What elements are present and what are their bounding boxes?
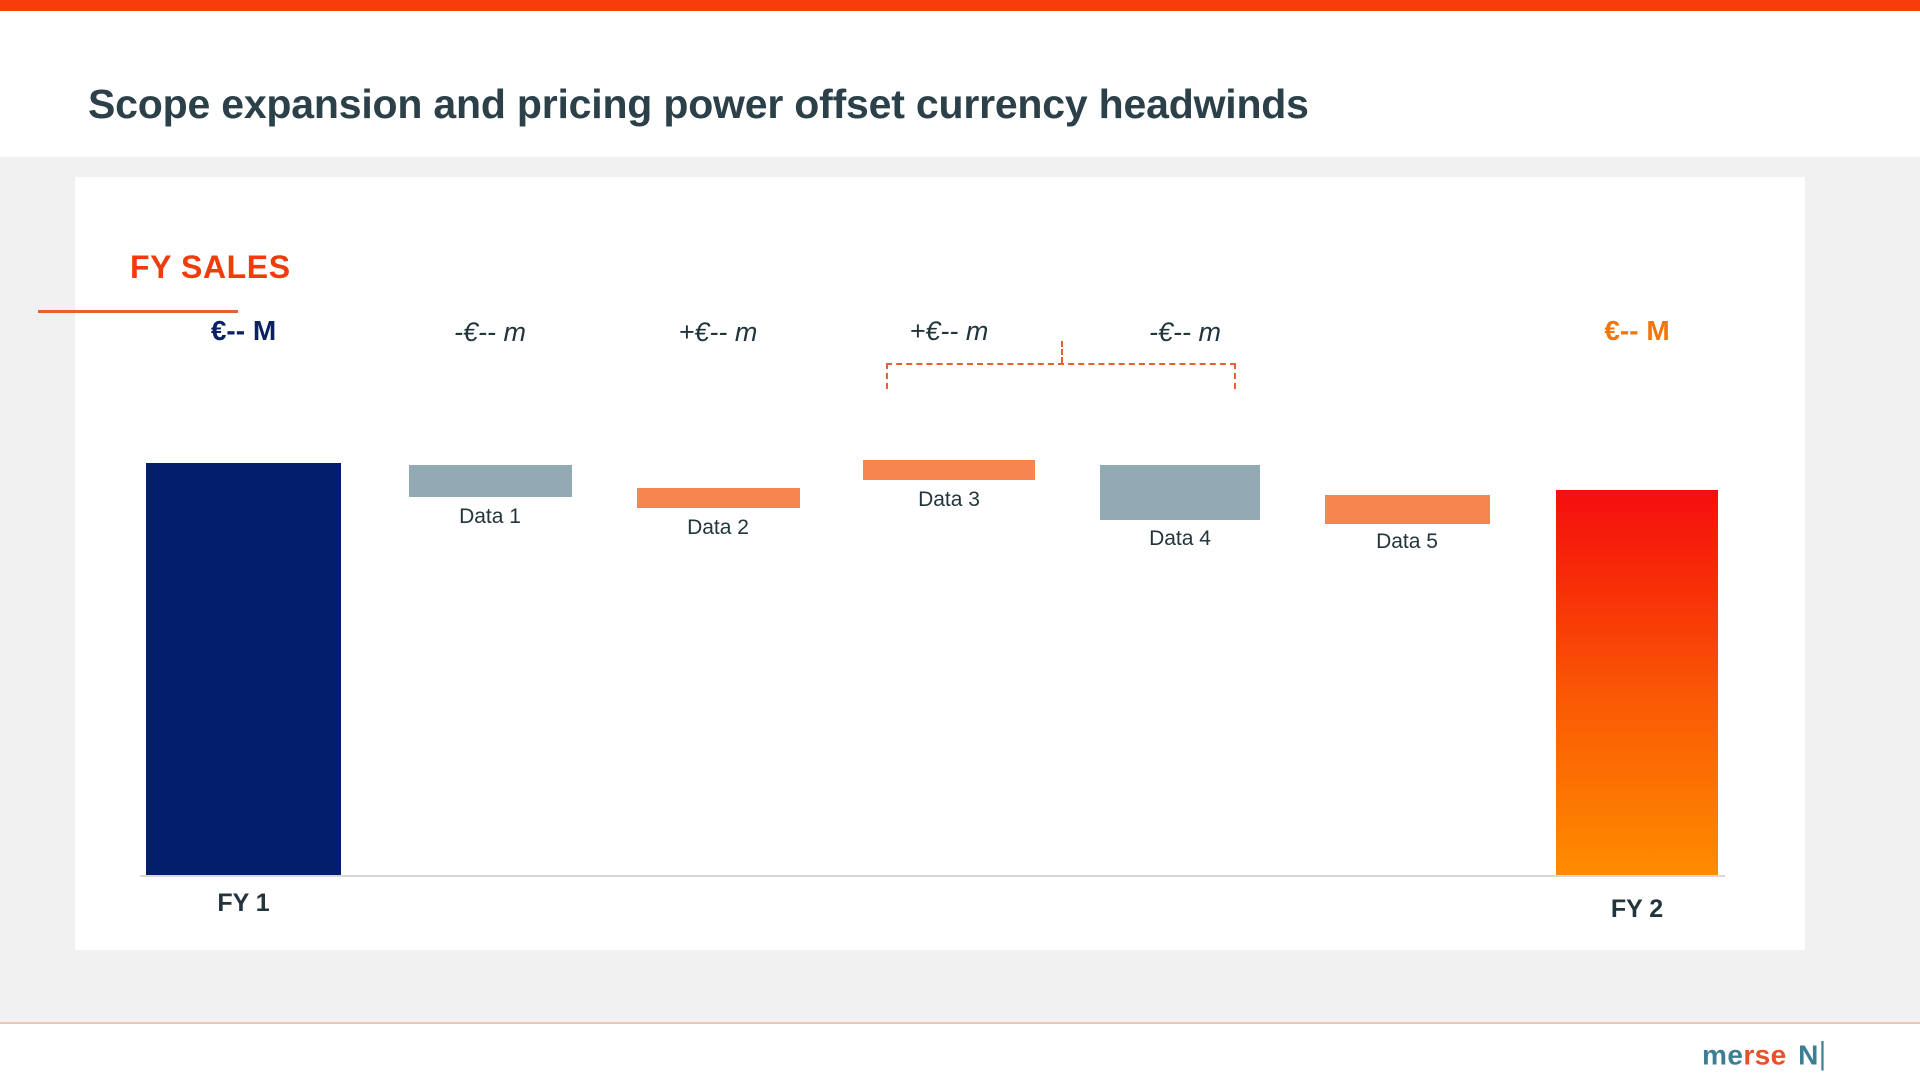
category-label-data-3: Data 3 — [854, 488, 1044, 512]
top-accent-bar — [0, 0, 1920, 11]
axis-label-fy-1: FY 1 — [146, 889, 341, 918]
category-label-data-4: Data 4 — [1085, 527, 1275, 551]
waterfall-chart: €-- MFY 1-€-- mData 1+€-- mData 2+€-- mD… — [75, 177, 1805, 950]
bracket-value-label: -€-- m — [1005, 317, 1365, 348]
slide-footer: me rse N — [0, 1024, 1920, 1080]
bar-fy-2 — [1556, 490, 1718, 875]
bar-fy-1 — [146, 463, 341, 875]
bracket-right-segment — [1234, 363, 1236, 389]
bar-data-3 — [863, 460, 1035, 480]
category-label-data-5: Data 5 — [1312, 530, 1502, 554]
mersen-logo-me: me — [1702, 1040, 1743, 1071]
chart-card: FY SALES €-- MFY 1-€-- mData 1+€-- mData… — [75, 177, 1805, 950]
value-label-data-2: +€-- m — [623, 317, 813, 348]
axis-label-fy-2: FY 2 — [1549, 895, 1725, 924]
bar-data-2 — [637, 488, 800, 508]
category-label-data-2: Data 2 — [623, 516, 813, 540]
bracket-top-segment — [886, 363, 1236, 365]
bar-data-5 — [1325, 495, 1490, 524]
bar-data-1 — [409, 465, 572, 497]
mersen-logo-rse: rse — [1743, 1040, 1786, 1071]
chart-baseline — [140, 875, 1725, 877]
bracket-left-segment — [886, 363, 888, 389]
category-label-data-1: Data 1 — [395, 505, 585, 529]
mersen-logo: me rse N — [1702, 1038, 1872, 1072]
slide-header: Scope expansion and pricing power offset… — [0, 11, 1920, 157]
value-label-fy-2: €-- M — [1556, 315, 1718, 347]
slide: Scope expansion and pricing power offset… — [0, 0, 1920, 1080]
mersen-logo-n: N — [1798, 1040, 1819, 1071]
bar-data-4 — [1100, 465, 1260, 520]
page-title: Scope expansion and pricing power offset… — [88, 81, 1309, 128]
group-bracket — [886, 363, 1236, 389]
content-stage: FY SALES €-- MFY 1-€-- mData 1+€-- mData… — [0, 157, 1920, 1022]
value-label-fy-1: €-- M — [146, 315, 341, 347]
value-label-data-1: -€-- m — [395, 317, 585, 348]
